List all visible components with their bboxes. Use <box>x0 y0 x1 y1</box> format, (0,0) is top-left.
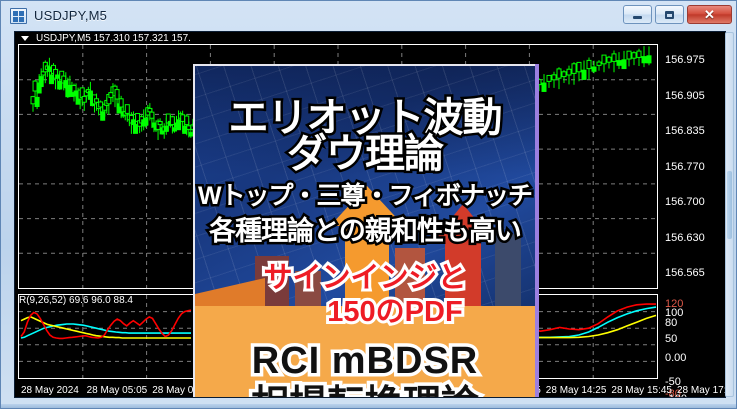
indicator-axis-label: 50 <box>665 333 677 345</box>
indicator-axis-label: 80 <box>665 317 677 329</box>
application-window: USDJPY,M5 ✕ <box>0 0 737 409</box>
price-axis-label: 156.835 <box>665 125 705 137</box>
price-axis-label: 156.770 <box>665 161 705 173</box>
window-controls: ✕ <box>623 5 732 24</box>
indicator-header-text: R(9,26,52) 69.6 96.0 88.4 <box>19 295 133 307</box>
chevron-down-icon[interactable] <box>21 36 29 41</box>
chart-window-icon <box>10 8 27 24</box>
promo-subline-1: Wトップ・三尊・フィボナッチ <box>195 184 535 209</box>
promo-redline-2: 150のPDF <box>195 298 535 327</box>
title-bar: USDJPY,M5 ✕ <box>1 1 737 30</box>
time-axis-label: 28 May 17:05 <box>677 385 726 396</box>
indicator-axis-label: 0.00 <box>665 352 686 364</box>
minimize-icon <box>633 16 642 19</box>
time-axis-label: 28 May 15:45 <box>611 385 672 396</box>
window-title: USDJPY,M5 <box>34 8 107 23</box>
promo-footer-1: RCI mBDSR <box>195 342 535 380</box>
price-axis-label: 156.700 <box>665 196 705 208</box>
time-axis-label: 28 May 2024 <box>21 385 79 396</box>
price-axis-label: 156.975 <box>665 54 705 66</box>
chart-client-area[interactable]: USDJPY,M5 157.310 157.321 157. R(9,26,52… <box>14 31 726 398</box>
price-axis-label: 156.630 <box>665 232 705 244</box>
overlay-right-edge-line <box>535 64 539 398</box>
chart-header-text: USDJPY,M5 157.310 157.321 157. <box>36 33 191 44</box>
vertical-scrollbar[interactable] <box>725 32 734 397</box>
chart-canvas[interactable]: USDJPY,M5 157.310 157.321 157. R(9,26,52… <box>15 32 725 397</box>
promo-subline-2: 各種理論との親和性も高い <box>195 218 535 245</box>
time-axis-label: 28 May 05:05 <box>87 385 148 396</box>
promo-overlay-image: エリオット波動 ダウ理論 Wトップ・三尊・フィボナッチ 各種理論との親和性も高い… <box>193 64 537 398</box>
promo-redline-1: サインインジと <box>195 264 535 293</box>
close-button[interactable]: ✕ <box>687 5 732 24</box>
chart-header: USDJPY,M5 157.310 157.321 157. <box>21 32 191 44</box>
scrollbar-thumb[interactable] <box>727 171 732 239</box>
minimize-button[interactable] <box>623 5 652 24</box>
promo-footer-2: 相場転換理論 <box>195 386 535 398</box>
close-icon: ✕ <box>704 8 715 21</box>
price-axis-label: 156.565 <box>665 267 705 279</box>
promo-headline-2: ダウ理論 <box>195 134 535 174</box>
maximize-icon <box>665 11 674 19</box>
time-axis-label: 28 May 14:25 <box>546 385 607 396</box>
price-axis-label: 156.905 <box>665 90 705 102</box>
maximize-button[interactable] <box>655 5 684 24</box>
